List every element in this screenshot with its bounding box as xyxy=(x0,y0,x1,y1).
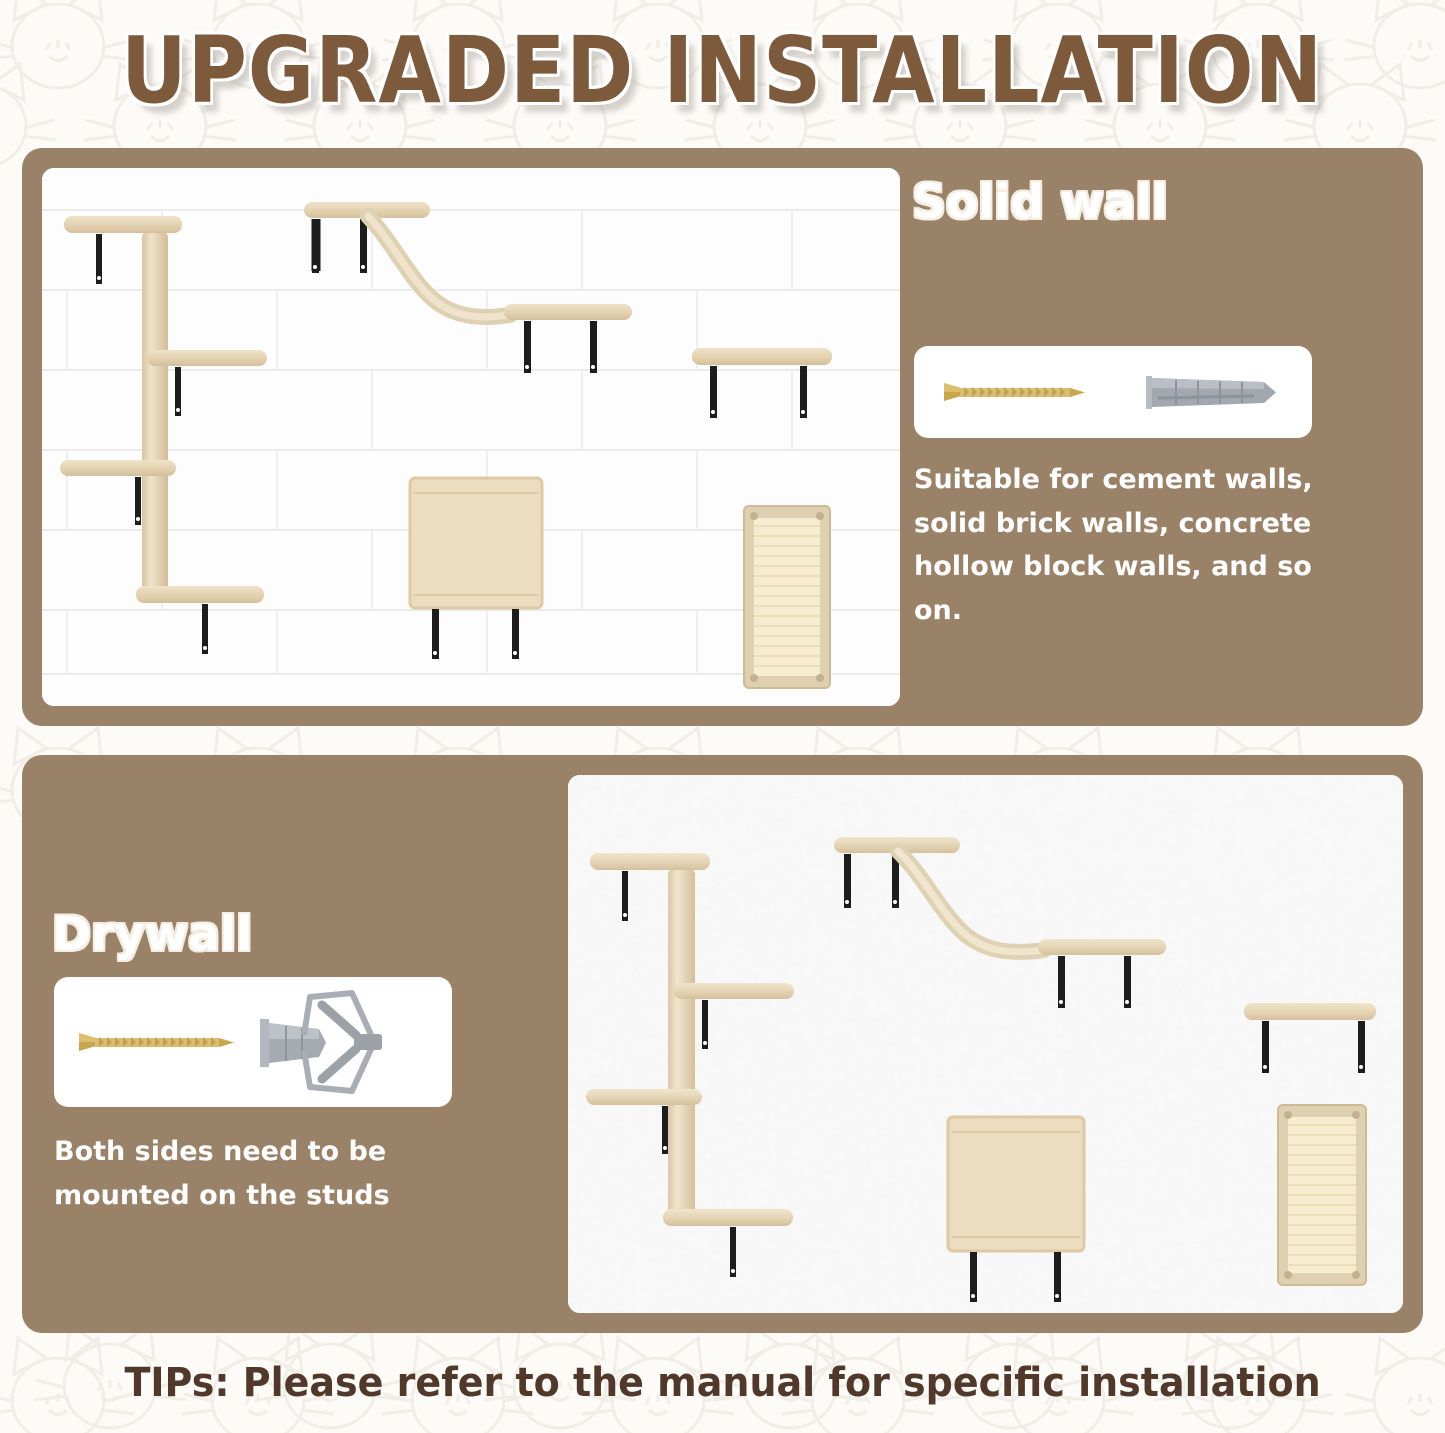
tips-text: TIPs: Please refer to the manual for spe… xyxy=(124,1360,1320,1406)
toggle-anchor-icon xyxy=(260,993,382,1091)
scratching-pad xyxy=(744,506,830,688)
page-title-bar: UPGRADED INSTALLATION xyxy=(0,0,1445,140)
wall-plug-anchor-icon xyxy=(1146,376,1276,409)
drywall-hardware-card xyxy=(54,977,452,1107)
page-title: UPGRADED INSTALLATION xyxy=(121,17,1323,124)
solid-wall-photo xyxy=(42,168,900,706)
scratching-post xyxy=(142,230,168,602)
solid-wall-hardware-card xyxy=(914,346,1312,438)
solid-wall-description: Suitable for cement walls, solid brick w… xyxy=(914,458,1334,633)
solid-wall-panel: Solid wall xyxy=(22,148,1423,726)
drywall-photo xyxy=(568,775,1403,1313)
drywall-heading: Drywall xyxy=(52,907,252,962)
scratching-post xyxy=(668,867,695,1225)
drywall-panel: Drywall xyxy=(22,755,1423,1333)
scratching-pad xyxy=(1278,1105,1366,1285)
drywall-description: Both sides need to be mounted on the stu… xyxy=(54,1130,484,1217)
wood-screw-icon xyxy=(79,1033,234,1051)
tips-bar: TIPs: Please refer to the manual for spe… xyxy=(0,1348,1445,1418)
wood-screw-icon xyxy=(944,383,1085,401)
solid-wall-heading: Solid wall xyxy=(912,175,1168,230)
